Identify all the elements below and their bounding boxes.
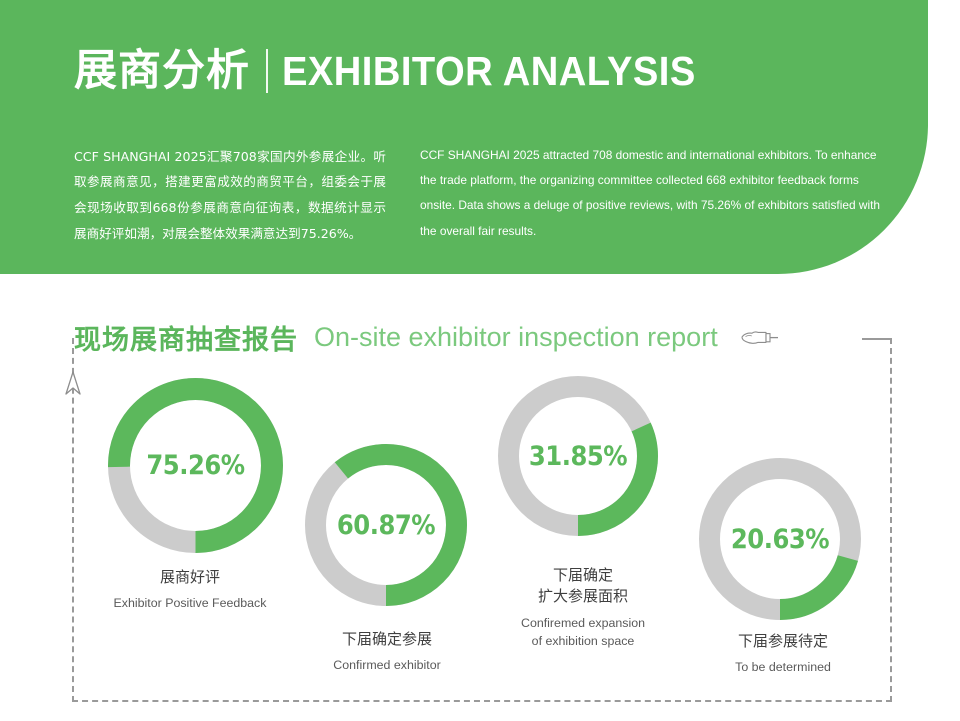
donut-2-value-label: 60.87% — [305, 444, 467, 606]
donut-1-label-english: Exhibitor Positive Feedback — [75, 594, 305, 613]
intro-paragraph-english: CCF SHANGHAI 2025 attracted 708 domestic… — [420, 143, 886, 248]
donut-4-caption: 下届参展待定 To be determined — [668, 631, 898, 677]
intro-paragraph-chinese: CCF SHANGHAI 2025汇聚708家国内外参展企业。听取参展商意见，搭… — [74, 144, 386, 247]
donut-4-value-label: 20.63% — [699, 458, 861, 620]
donut-3-label-english-line2: of exhibition space — [468, 632, 698, 651]
title-divider — [266, 49, 268, 93]
cursor-arrow-icon — [64, 370, 82, 396]
donut-chart-confirmed-expansion: 31.85% — [498, 376, 658, 536]
donut-chart-to-be-determined: 20.63% — [699, 458, 861, 620]
donut-2-label-english: Confirmed exhibitor — [272, 656, 502, 675]
section-heading-english: On-site exhibitor inspection report — [314, 322, 718, 353]
section-heading-chinese: 现场展商抽查报告 — [74, 318, 298, 357]
donut-1-caption: 展商好评 Exhibitor Positive Feedback — [75, 567, 305, 613]
donut-1-value-label: 75.26% — [108, 378, 283, 553]
page-title: 展商分析 EXHIBITOR ANALYSIS — [74, 49, 727, 93]
donut-4-label-english: To be determined — [668, 658, 898, 677]
header-banner: 展商分析 EXHIBITOR ANALYSIS CCF SHANGHAI 202… — [0, 0, 928, 274]
donut-chart-confirmed-exhibitor: 60.87% — [305, 444, 467, 606]
donut-chart-exhibitor-positive-feedback: 75.26% — [108, 378, 283, 553]
page-title-chinese: 展商分析 — [74, 50, 250, 93]
frame-corner-top-right — [862, 338, 892, 340]
page-title-english: EXHIBITOR ANALYSIS — [282, 51, 696, 92]
donut-3-value-label: 31.85% — [498, 376, 658, 536]
donut-3-label-chinese: 下届确定 — [468, 565, 698, 586]
report-section: 现场展商抽查报告 On-site exhibitor inspection re… — [0, 274, 960, 721]
donut-3-label-english: Confiremed expansion — [468, 614, 698, 633]
intro-paragraphs: CCF SHANGHAI 2025汇聚708家国内外参展企业。听取参展商意见，搭… — [74, 131, 904, 259]
section-heading: 现场展商抽查报告 On-site exhibitor inspection re… — [74, 318, 780, 357]
donut-3-label-chinese-line2: 扩大参展面积 — [468, 586, 698, 607]
donut-4-label-chinese: 下届参展待定 — [668, 631, 898, 652]
pointing-hand-icon — [738, 327, 780, 349]
donut-1-label-chinese: 展商好评 — [75, 567, 305, 588]
donut-3-caption: 下届确定 扩大参展面积 Confiremed expansion of exhi… — [468, 565, 698, 651]
